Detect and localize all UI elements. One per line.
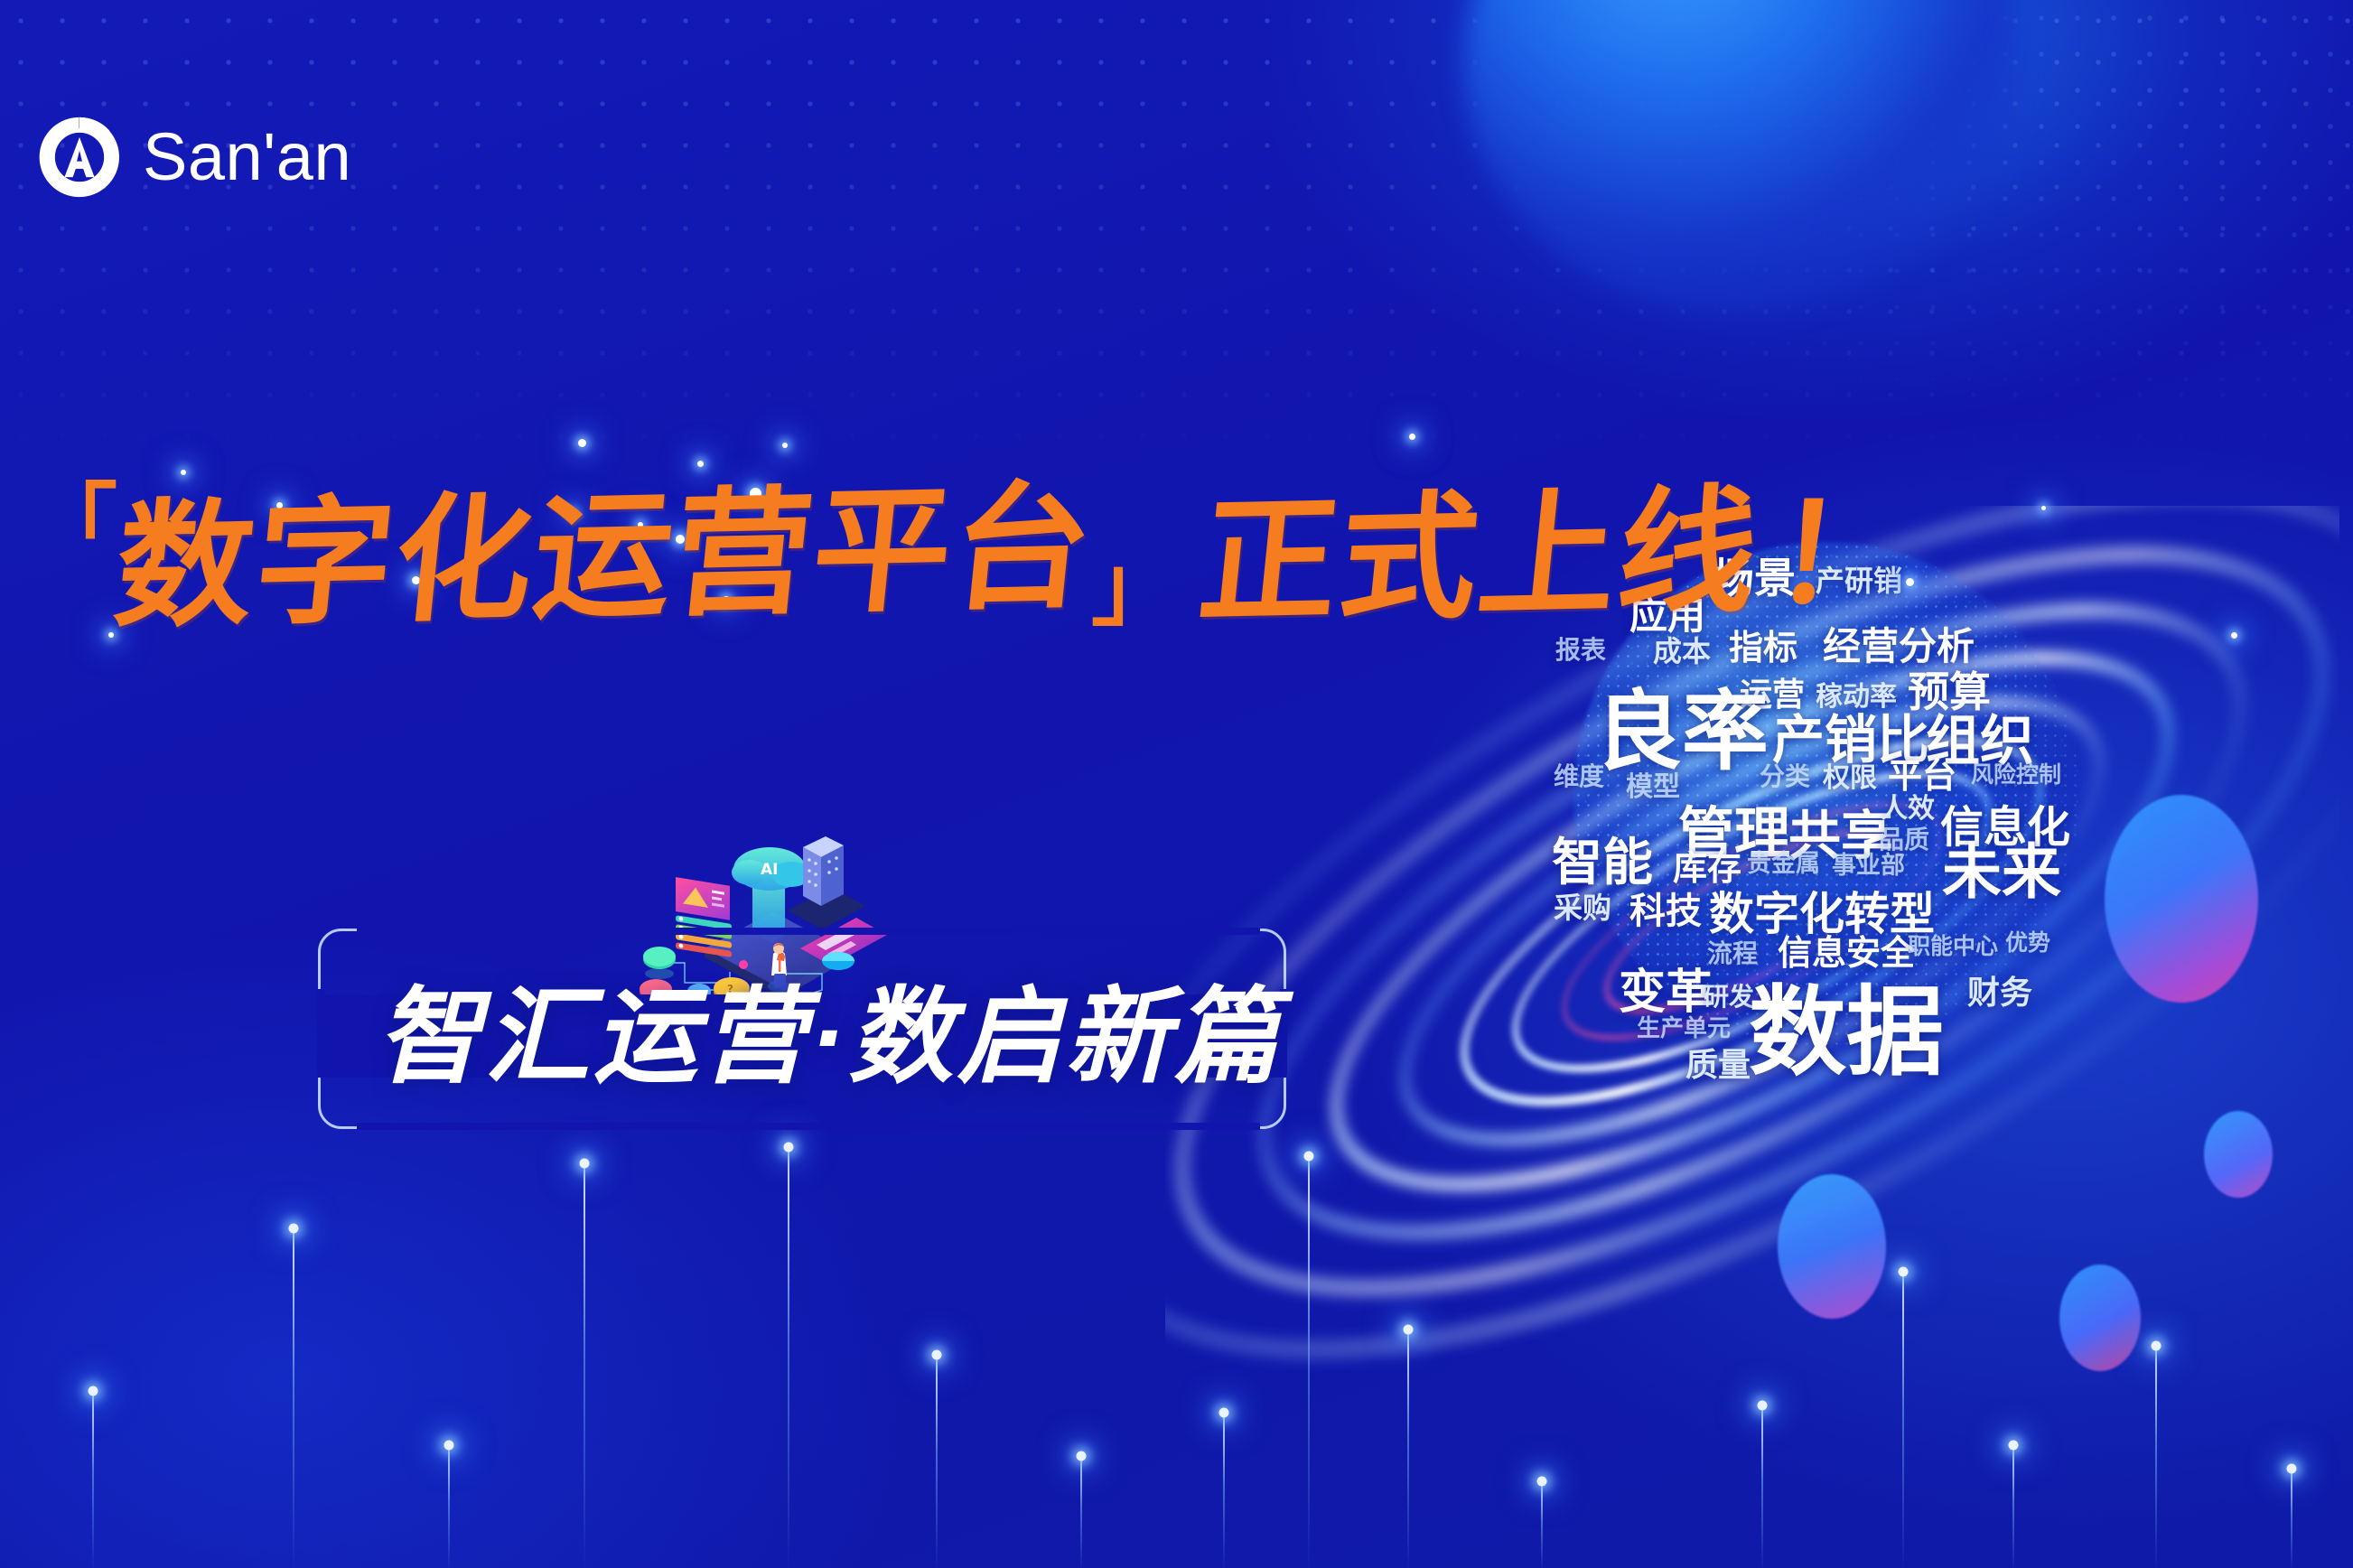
word-cloud-term: 研发 — [1704, 977, 1754, 1013]
light-beam — [1303, 1156, 1315, 1568]
headline-exclamation: ！ — [1767, 486, 1917, 624]
promo-banner: 场景产研销应用报表成本指标经营分析运营稼动率预算良率产销比组织维度模型分类权限平… — [0, 0, 2353, 1568]
word-cloud-term: 财务 — [1967, 966, 2032, 1013]
particle-sparkle — [2041, 506, 2046, 510]
word-cloud-term: 质量 — [1685, 1039, 1751, 1086]
light-beam — [2150, 1346, 2162, 1568]
planet-sphere-icon — [1463, 0, 2023, 316]
gradient-orb-small — [2059, 1265, 2141, 1371]
light-beam — [2285, 1469, 2298, 1568]
particle-sparkle — [782, 443, 788, 448]
gradient-orb-tiny — [2204, 1111, 2273, 1198]
subtitle-text: 智汇运营·数启新篇 — [359, 974, 1299, 1100]
particle-sparkle — [2231, 632, 2237, 639]
word-cloud-term: 权限 — [1823, 755, 1877, 795]
light-beam — [1218, 1413, 1230, 1568]
brand-logo[interactable]: San'an — [38, 116, 351, 199]
light-beam — [1536, 1481, 1548, 1568]
brand-name: San'an — [143, 124, 351, 191]
light-beam — [930, 1355, 943, 1568]
light-beam — [1756, 1405, 1769, 1568]
word-cloud-term: 贵金属 — [1747, 844, 1820, 879]
word-cloud-term: 模型 — [1626, 764, 1680, 804]
light-beam — [1075, 1456, 1088, 1568]
light-beam — [1402, 1330, 1415, 1568]
light-beam — [782, 1147, 795, 1568]
light-beam — [2007, 1445, 2020, 1568]
headline-open-bracket: 「 — [31, 486, 117, 564]
light-beam — [578, 1163, 591, 1568]
particle-sparkle — [697, 461, 704, 467]
headline-close-bracket: 」 — [1091, 548, 1178, 626]
particle-sparkle — [181, 470, 186, 475]
light-beam — [443, 1445, 455, 1568]
word-cloud-term: 良率 — [1595, 661, 1769, 787]
word-cloud-term: 数据 — [1749, 954, 1944, 1095]
headline-suffix-text: 正式上线 — [1193, 481, 1765, 632]
word-cloud-term: 科技 — [1629, 882, 1702, 934]
sanan-circle-a-logo-icon — [38, 116, 121, 199]
headline-main-text: 数字化运营平台 — [109, 476, 1099, 637]
light-beam — [87, 1391, 99, 1568]
word-cloud-term: 采购 — [1554, 885, 1611, 927]
gradient-orb-medium — [1778, 1174, 1886, 1319]
word-cloud-term: 未来 — [1942, 824, 2061, 910]
word-cloud-term: 风险控制 — [1971, 757, 2061, 789]
particle-sparkle — [578, 439, 586, 447]
word-cloud-term: 维度 — [1554, 757, 1604, 793]
word-cloud-term: 事业部 — [1832, 845, 1905, 881]
headline: 「 数字化运营平台 」 正式上线 ！ — [31, 486, 1909, 626]
ai-cloud-label: AI — [761, 861, 778, 879]
particle-sparkle — [1409, 434, 1415, 440]
word-cloud-term: 优势 — [2005, 925, 2050, 957]
light-beam — [1897, 1272, 1909, 1568]
light-beam — [287, 1228, 300, 1568]
